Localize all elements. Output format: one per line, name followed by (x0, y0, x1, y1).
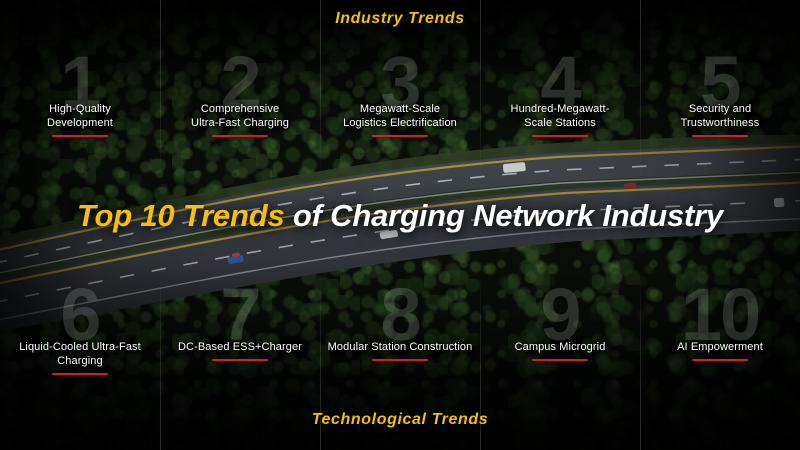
trend-label-5: Security and Trustworthiness (644, 102, 796, 130)
trend-item-10[interactable]: 10 AI Empowerment (640, 278, 800, 388)
trend-label-box-3: Megawatt-Scale Logistics Electrification (324, 102, 476, 137)
page-title-accent: Top 10 Trends (77, 198, 285, 233)
trend-underline-1 (52, 135, 108, 137)
page-title-plain: of Charging Network Industry (293, 198, 723, 233)
industry-trends-row: 1 High-Quality Development 2 Comprehensi… (0, 44, 800, 154)
industry-trends-section-title: Industry Trends (0, 10, 800, 28)
trend-underline-7 (212, 359, 268, 361)
trend-label-8: Modular Station Construction (324, 340, 476, 354)
trend-underline-4 (532, 135, 588, 137)
technological-trends-section-title: Technological Trends (0, 411, 800, 429)
trend-underline-9 (532, 359, 588, 361)
trend-label-box-2: Comprehensive Ultra-Fast Charging (164, 102, 316, 137)
trend-label-box-7: DC-Based ESS+Charger (164, 340, 316, 361)
trend-label-6: Liquid-Cooled Ultra-Fast Charging (4, 340, 156, 368)
trend-label-box-4: Hundred-Megawatt- Scale Stations (484, 102, 636, 137)
trend-label-2: Comprehensive Ultra-Fast Charging (164, 102, 316, 130)
trend-label-4: Hundred-Megawatt- Scale Stations (484, 102, 636, 130)
trend-label-box-9: Campus Microgrid (484, 340, 636, 361)
trend-underline-8 (372, 359, 428, 361)
trend-label-box-1: High-Quality Development (4, 102, 156, 137)
trend-item-3[interactable]: 3 Megawatt-Scale Logistics Electrificati… (320, 44, 480, 154)
trend-label-box-6: Liquid-Cooled Ultra-Fast Charging (4, 340, 156, 375)
trend-item-6[interactable]: 6 Liquid-Cooled Ultra-Fast Charging (0, 278, 160, 388)
page-title: Top 10 Trends of Charging Network Indust… (0, 198, 800, 234)
trend-item-2[interactable]: 2 Comprehensive Ultra-Fast Charging (160, 44, 320, 154)
trend-label-10: AI Empowerment (644, 340, 796, 354)
poster-content: Industry Trends 1 High-Quality Developme… (0, 0, 800, 450)
trend-label-1: High-Quality Development (4, 102, 156, 130)
trend-item-7[interactable]: 7 DC-Based ESS+Charger (160, 278, 320, 388)
trend-item-8[interactable]: 8 Modular Station Construction (320, 278, 480, 388)
trend-underline-2 (212, 135, 268, 137)
trend-underline-6 (52, 373, 108, 375)
trend-label-box-10: AI Empowerment (644, 340, 796, 361)
trend-label-7: DC-Based ESS+Charger (164, 340, 316, 354)
trend-underline-10 (692, 359, 748, 361)
trend-label-3: Megawatt-Scale Logistics Electrification (324, 102, 476, 130)
trend-item-9[interactable]: 9 Campus Microgrid (480, 278, 640, 388)
trend-underline-5 (692, 135, 748, 137)
trend-label-box-5: Security and Trustworthiness (644, 102, 796, 137)
trend-item-4[interactable]: 4 Hundred-Megawatt- Scale Stations (480, 44, 640, 154)
poster-root: Industry Trends 1 High-Quality Developme… (0, 0, 800, 450)
trend-item-5[interactable]: 5 Security and Trustworthiness (640, 44, 800, 154)
trend-underline-3 (372, 135, 428, 137)
technological-trends-row: 6 Liquid-Cooled Ultra-Fast Charging 7 DC… (0, 278, 800, 388)
trend-label-box-8: Modular Station Construction (324, 340, 476, 361)
trend-item-1[interactable]: 1 High-Quality Development (0, 44, 160, 154)
trend-label-9: Campus Microgrid (484, 340, 636, 354)
